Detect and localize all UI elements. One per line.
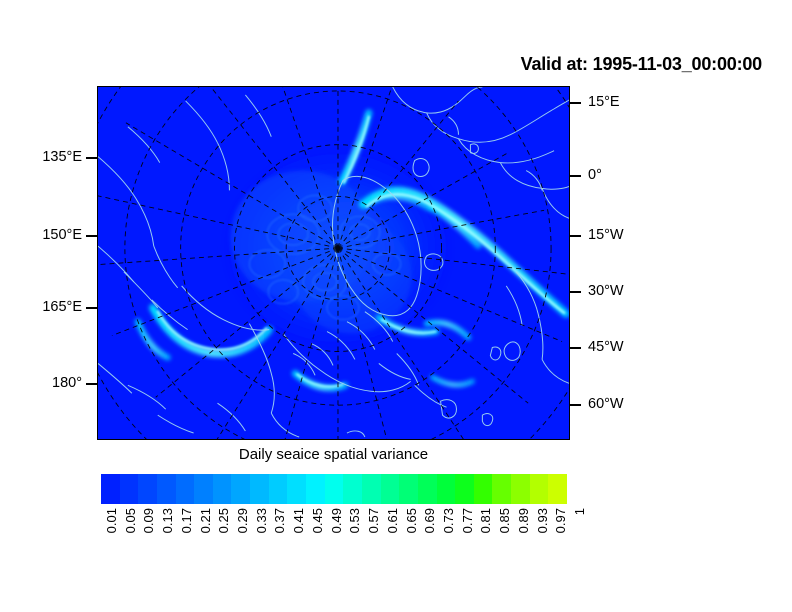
colorbar-swatch-5 [194,474,213,504]
colorbar-swatch-4 [176,474,195,504]
right-tick-label-3: 30°W [588,284,624,299]
left-tick-label-3: 180° [52,376,82,391]
right-tick-4 [570,347,581,349]
colorbar-swatch-2 [138,474,157,504]
colorbar-swatch-8 [250,474,269,504]
right-tick-5 [570,404,581,406]
right-tick-label-5: 60°W [588,397,624,412]
colorbar-tick-label-20: 0.81 [479,508,492,533]
right-tick-2 [570,235,581,237]
colorbar-tick-label-1: 0.05 [124,508,137,533]
colorbar-tick-label-7: 0.29 [236,508,249,533]
colorbar-swatch-15 [381,474,400,504]
colorbar-swatch-0 [101,474,120,504]
colorbar-tick-label-11: 0.45 [311,508,324,533]
map-axes [97,86,570,440]
colorbar-tick-label-21: 0.85 [498,508,511,533]
colorbar-swatch-22 [511,474,530,504]
colorbar-swatches [100,473,568,505]
plot-title: Valid at: 1995-11-03_00:00:00 [521,54,762,75]
colorbar-tick-label-12: 0.49 [330,508,343,533]
colorbar-tick-labels: 0.010.050.090.130.170.210.250.290.330.37… [100,508,568,568]
colorbar [100,473,568,505]
right-tick-0 [570,102,581,104]
colorbar-swatch-6 [213,474,232,504]
colorbar-swatch-24 [548,474,567,504]
colorbar-tick-label-0: 0.01 [105,508,118,533]
right-tick-label-1: 0° [588,168,602,183]
colorbar-tick-label-18: 0.73 [442,508,455,533]
colorbar-tick-label-4: 0.17 [180,508,193,533]
colorbar-swatch-1 [120,474,139,504]
colorbar-tick-label-10: 0.41 [292,508,305,533]
colorbar-swatch-23 [530,474,549,504]
colorbar-tick-label-23: 0.93 [536,508,549,533]
right-tick-label-0: 15°E [588,95,620,110]
colorbar-tick-label-6: 0.25 [217,508,230,533]
left-tick-label-1: 150°E [42,228,82,243]
colorbar-swatch-10 [287,474,306,504]
colorbar-tick-label-24: 0.97 [554,508,567,533]
colorbar-swatch-7 [231,474,250,504]
colorbar-tick-label-5: 0.21 [199,508,212,533]
colorbar-swatch-18 [437,474,456,504]
colorbar-swatch-21 [492,474,511,504]
colorbar-tick-label-17: 0.69 [423,508,436,533]
colorbar-tick-label-15: 0.61 [386,508,399,533]
colorbar-tick-label-13: 0.53 [348,508,361,533]
colorbar-tick-label-22: 0.89 [517,508,530,533]
colorbar-swatch-13 [343,474,362,504]
left-tick-2 [86,307,97,309]
left-tick-1 [86,235,97,237]
colorbar-swatch-14 [362,474,381,504]
colorbar-tick-label-9: 0.37 [273,508,286,533]
left-tick-label-0: 135°E [42,150,82,165]
right-tick-3 [570,291,581,293]
colorbar-tick-label-8: 0.33 [255,508,268,533]
x-axis-label: Daily seaice spatial variance [97,446,570,463]
figure: Valid at: 1995-11-03_00:00:00 [0,0,792,612]
colorbar-swatch-11 [306,474,325,504]
colorbar-swatch-16 [399,474,418,504]
colorbar-tick-label-2: 0.09 [142,508,155,533]
left-tick-0 [86,157,97,159]
colorbar-swatch-17 [418,474,437,504]
right-tick-label-4: 45°W [588,340,624,355]
colorbar-swatch-12 [325,474,344,504]
colorbar-tick-label-3: 0.13 [161,508,174,533]
left-tick-label-2: 165°E [42,300,82,315]
colorbar-tick-label-16: 0.65 [405,508,418,533]
colorbar-tick-label-19: 0.77 [461,508,474,533]
colorbar-swatch-9 [269,474,288,504]
colorbar-swatch-20 [474,474,493,504]
map-canvas [98,87,569,439]
right-tick-1 [570,175,581,177]
colorbar-tick-label-25: 1 [573,508,586,515]
right-tick-label-2: 15°W [588,228,624,243]
colorbar-tick-label-14: 0.57 [367,508,380,533]
colorbar-swatch-3 [157,474,176,504]
colorbar-swatch-19 [455,474,474,504]
left-tick-3 [86,383,97,385]
